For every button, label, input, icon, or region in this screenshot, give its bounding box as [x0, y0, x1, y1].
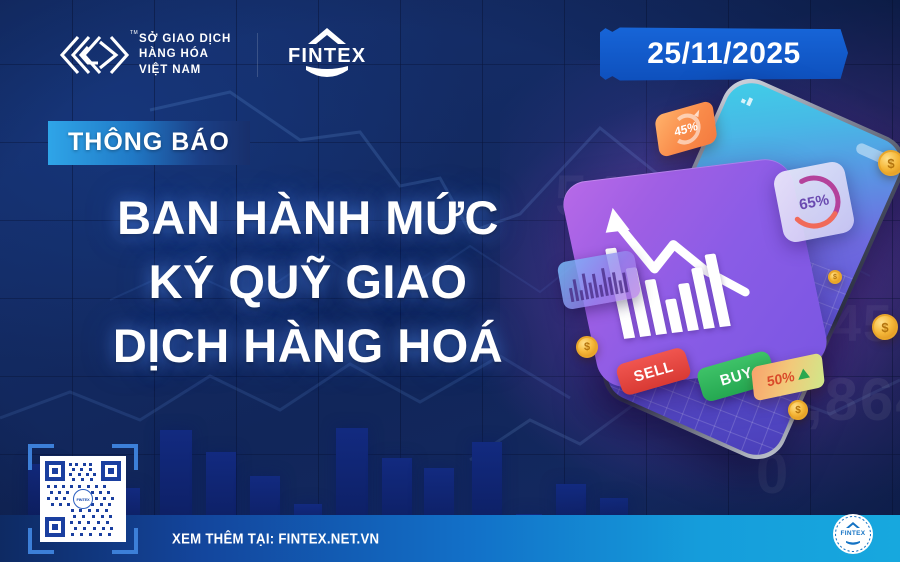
mxv-line-2: HÀNG HÓA: [139, 47, 231, 62]
coin-icon: $: [788, 400, 808, 420]
qr-finder-bottom-left: [45, 517, 65, 537]
headline-line-1: BAN HÀNH MỨC: [48, 186, 568, 250]
coin-symbol: $: [795, 405, 801, 416]
notice-graphic: 544 ,864 45 0 75: [0, 0, 900, 562]
qr-modules: FINTEX: [45, 461, 121, 537]
logo-divider: [257, 33, 258, 77]
buy-button-label: BUY: [718, 364, 755, 390]
mxv-line-3: VIỆT NAM: [139, 63, 231, 78]
trademark-symbol: TM: [130, 30, 138, 36]
up-triangle-icon: [797, 368, 810, 380]
badge-65-percent: 65%: [772, 160, 856, 244]
fintex-seal-badge: FINTEX: [832, 513, 874, 555]
coin-icon: $: [576, 336, 598, 358]
qr-finder-top-left: [45, 461, 65, 481]
date-badge: 25/11/2025: [600, 27, 848, 81]
badge-50-label: 50%: [766, 368, 795, 390]
headline-line-2: KÝ QUỸ GIAO: [48, 250, 568, 314]
mxv-chevron-mark-icon: [58, 33, 132, 77]
coin-symbol: $: [833, 274, 837, 281]
notice-badge-label: THÔNG BÁO: [68, 128, 230, 156]
fintex-logo: FINTEX: [284, 26, 370, 84]
fintex-wordmark: FINTEX: [284, 45, 370, 68]
coin-icon: $: [828, 270, 842, 284]
mxv-wordmark: TM SỞ GIAO DỊCH HÀNG HÓA VIỆT NAM: [139, 32, 231, 78]
qr-code[interactable]: FINTEX: [28, 444, 138, 554]
coin-icon: $: [872, 314, 898, 340]
footer-cta[interactable]: XEM THÊM TẠI: FINTEX.NET.VN: [172, 530, 379, 547]
headline-line-3: DỊCH HÀNG HOÁ: [48, 314, 568, 378]
coin-symbol: $: [881, 320, 888, 335]
coin-icon: $: [878, 150, 900, 176]
headline: BAN HÀNH MỨC KÝ QUỸ GIAO DỊCH HÀNG HOÁ: [48, 186, 568, 378]
qr-center-logo: FINTEX: [73, 489, 93, 509]
date-value: 25/11/2025: [647, 37, 801, 71]
signal-bars-icon: [741, 91, 760, 108]
mxv-logo: TM SỞ GIAO DỊCH HÀNG HÓA VIỆT NAM: [58, 32, 231, 78]
qr-finder-top-right: [101, 461, 121, 481]
coin-symbol: $: [584, 341, 590, 353]
sell-button-label: SELL: [632, 358, 676, 386]
header-logo-row: TM SỞ GIAO DỊCH HÀNG HÓA VIỆT NAM FINTEX: [58, 26, 370, 84]
mxv-line-1: SỞ GIAO DỊCH: [139, 32, 231, 47]
qr-code-bitmap: FINTEX: [40, 456, 126, 542]
notice-badge: THÔNG BÁO: [48, 121, 250, 165]
hero-illustration: SELL BUY 45% 65%: [560, 78, 900, 478]
coin-symbol: $: [887, 156, 894, 171]
seal-wordmark: FINTEX: [832, 530, 874, 537]
